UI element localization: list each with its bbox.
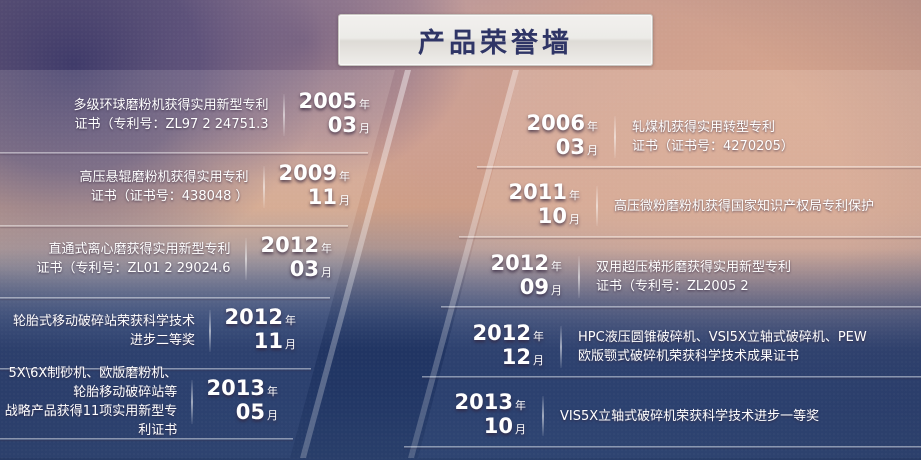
entry-description: 双用超压梯形磨获得实用新型专利 证书（专利号：ZL2005 2 <box>596 258 791 296</box>
timeline-entry-left-5[interactable]: 5X\6X制砂机、欧版磨粉机、轮胎移动破碎站等 战略产品获得11项实用新型专利证… <box>0 374 278 430</box>
entry-date: 2012年 09月 <box>488 253 562 301</box>
year-unit-label: 年 <box>359 98 370 111</box>
timeline-entry-left-1[interactable]: 多级环球磨粉机获得实用新型专利 证书（专利号：ZL97 2 24751.3 20… <box>40 88 370 142</box>
entry-divider <box>614 116 616 158</box>
entry-description: 轮胎式移动破碎站荣获科学技术进步二等奖 <box>0 312 195 350</box>
entry-month: 03 <box>290 257 319 281</box>
month-unit-label: 月 <box>533 354 544 367</box>
entry-divider <box>283 94 285 136</box>
timeline-entry-right-2[interactable]: 2011年 10月 高压微粉磨粉机获得国家知识产权局专利保护 <box>506 180 916 232</box>
year-unit-label: 年 <box>569 189 580 202</box>
year-unit-label: 年 <box>321 242 332 255</box>
entry-divider <box>245 238 247 280</box>
entry-month: 11 <box>254 329 283 353</box>
month-unit-label: 月 <box>267 409 278 422</box>
entry-year: 2012 <box>491 251 549 275</box>
entry-year: 2006 <box>527 111 585 135</box>
entry-description: 多级环球磨粉机获得实用新型专利 证书（专利号：ZL97 2 24751.3 <box>74 96 269 134</box>
entry-date: 2012年 03月 <box>261 235 332 283</box>
page-title-text: 产品荣誉墙 <box>418 21 573 60</box>
entry-description: VIS5X立轴式破碎机荣获科学技术进步一等奖 <box>560 407 819 426</box>
month-unit-label: 月 <box>359 122 370 135</box>
entry-year: 2012 <box>473 321 531 345</box>
entry-description: 高压悬辊磨粉机获得实用专利 证书（证书号：438048 ） <box>80 168 249 206</box>
month-unit-label: 月 <box>551 284 562 297</box>
year-unit-label: 年 <box>515 399 526 412</box>
entry-year: 2013 <box>207 376 265 400</box>
timeline-entry-right-4[interactable]: 2012年 12月 HPC液压圆锥破碎机、VSI5X立轴式破碎机、PEW 欧版颚… <box>470 320 918 374</box>
row-separator <box>0 297 330 299</box>
month-unit-label: 月 <box>321 266 332 279</box>
entry-month: 05 <box>236 400 265 424</box>
timeline-entry-right-3[interactable]: 2012年 09月 双用超压梯形磨获得实用新型专利 证书（专利号：ZL2005 … <box>488 250 913 304</box>
timeline-entry-right-1[interactable]: 2006年 03月 轧煤机获得实用转型专利 证书（证书号：4270205） <box>524 110 914 164</box>
year-unit-label: 年 <box>587 120 598 133</box>
month-unit-label: 月 <box>515 423 526 436</box>
entry-month: 03 <box>556 135 585 159</box>
entry-year: 2013 <box>455 390 513 414</box>
entry-date: 2013年 05月 <box>207 378 278 426</box>
entry-divider <box>578 256 580 298</box>
month-unit-label: 月 <box>285 338 296 351</box>
entry-divider <box>560 326 562 368</box>
entry-description: 轧煤机获得实用转型专利 证书（证书号：4270205） <box>632 118 794 156</box>
page-title: 产品荣誉墙 <box>338 14 653 66</box>
entry-month: 12 <box>502 345 531 369</box>
year-unit-label: 年 <box>339 170 350 183</box>
entry-date: 2005年 03月 <box>299 91 370 139</box>
year-unit-label: 年 <box>533 330 544 343</box>
entry-date: 2013年 10月 <box>452 392 526 440</box>
row-separator <box>459 236 921 238</box>
entry-divider <box>542 396 544 436</box>
entry-month: 03 <box>328 113 357 137</box>
entry-year: 2005 <box>299 89 357 113</box>
entry-divider <box>191 380 192 424</box>
row-separator <box>441 306 921 308</box>
year-unit-label: 年 <box>285 314 296 327</box>
entry-year: 2009 <box>279 161 337 185</box>
row-separator <box>0 152 368 154</box>
entry-year: 2012 <box>225 305 283 329</box>
entry-month: 10 <box>484 414 513 438</box>
honor-wall-banner: 产品荣誉墙 多级环球磨粉机获得实用新型专利 证书（专利号：ZL97 2 2475… <box>0 0 921 460</box>
row-separator <box>477 166 921 168</box>
entry-month: 10 <box>538 204 567 228</box>
entry-divider <box>209 310 211 352</box>
year-unit-label: 年 <box>267 385 278 398</box>
month-unit-label: 月 <box>339 194 350 207</box>
entry-year: 2012 <box>261 233 319 257</box>
month-unit-label: 月 <box>569 213 580 226</box>
entry-description: 高压微粉磨粉机获得国家知识产权局专利保护 <box>614 197 874 216</box>
entry-date: 2009年 11月 <box>279 163 350 211</box>
year-unit-label: 年 <box>551 260 562 273</box>
timeline-entry-left-3[interactable]: 直通式离心磨获得实用新型专利 证书（专利号：ZL01 2 29024.6 201… <box>12 232 332 286</box>
entry-divider <box>596 186 598 226</box>
entry-divider <box>263 166 265 208</box>
entry-description: 5X\6X制砂机、欧版磨粉机、轮胎移动破碎站等 战略产品获得11项实用新型专利证… <box>0 364 177 440</box>
row-separator <box>422 376 921 378</box>
entry-date: 2012年 11月 <box>225 307 296 355</box>
entry-description: HPC液压圆锥破碎机、VSI5X立轴式破碎机、PEW 欧版颚式破碎机荣获科学技术… <box>578 328 867 366</box>
month-unit-label: 月 <box>587 144 598 157</box>
row-separator <box>0 225 348 227</box>
timeline-entry-right-5[interactable]: 2013年 10月 VIS5X立轴式破碎机荣获科学技术进步一等奖 <box>452 390 912 442</box>
row-separator <box>404 446 921 448</box>
entry-month: 09 <box>520 275 549 299</box>
entry-month: 11 <box>308 185 337 209</box>
timeline-entry-left-4[interactable]: 轮胎式移动破碎站荣获科学技术进步二等奖 2012年 11月 <box>0 304 296 358</box>
entry-year: 2011 <box>509 180 567 204</box>
entry-date: 2006年 03月 <box>524 113 598 161</box>
entry-description: 直通式离心磨获得实用新型专利 证书（专利号：ZL01 2 29024.6 <box>37 240 231 278</box>
entry-date: 2012年 12月 <box>470 323 544 371</box>
entry-date: 2011年 10月 <box>506 182 580 230</box>
timeline-entry-left-2[interactable]: 高压悬辊磨粉机获得实用专利 证书（证书号：438048 ） 2009年 11月 <box>30 160 350 214</box>
